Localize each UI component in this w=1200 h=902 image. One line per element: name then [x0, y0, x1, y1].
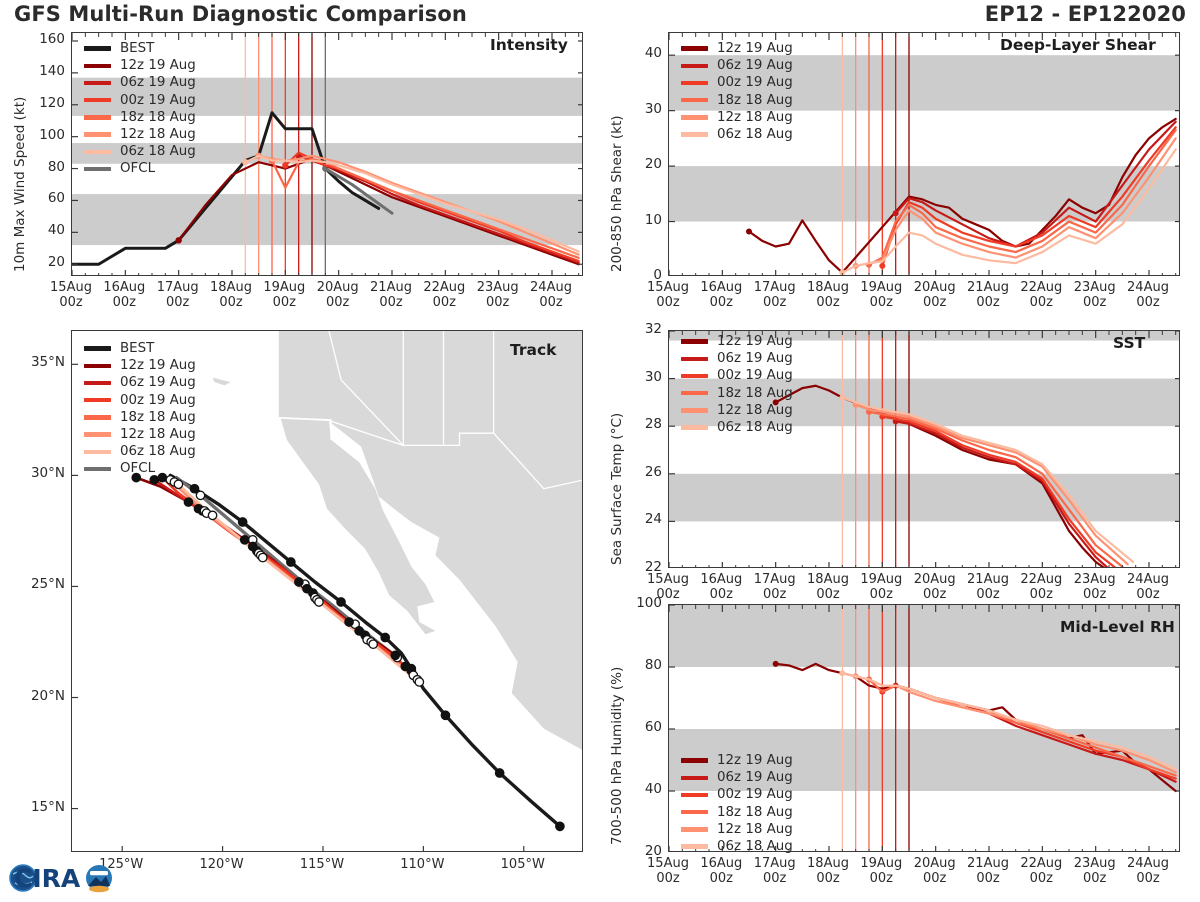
legend-item: 12z 18 Aug — [681, 402, 793, 419]
legend-label: 12z 18 Aug — [717, 822, 793, 837]
axis-tick-label: 10 — [622, 212, 662, 228]
legend-item: 06z 19 Aug — [84, 374, 196, 391]
legend-label: 00z 19 Aug — [120, 93, 196, 108]
axis-tick-label: 115°W — [282, 858, 362, 873]
axis-tick-label: 40 — [25, 222, 65, 238]
legend-label: 06z 19 Aug — [120, 375, 196, 390]
legend-label: 12z 18 Aug — [717, 403, 793, 418]
legend-item: 12z 18 Aug — [84, 126, 196, 143]
legend-intensity: BEST12z 19 Aug06z 19 Aug00z 19 Aug18z 18… — [84, 40, 196, 178]
legend-swatch-icon — [681, 776, 708, 780]
legend-label: 12z 18 Aug — [120, 427, 196, 442]
legend-item: 12z 19 Aug — [681, 40, 793, 57]
legend-swatch-icon — [681, 64, 708, 68]
svg-text:CIRA: CIRA — [14, 864, 81, 893]
legend-sst: 12z 19 Aug06z 19 Aug00z 19 Aug18z 18 Aug… — [681, 333, 793, 436]
legend-swatch-icon — [681, 81, 708, 85]
legend-item: BEST — [84, 40, 196, 57]
legend-item: 00z 19 Aug — [681, 74, 793, 91]
legend-swatch-icon — [681, 339, 708, 343]
storm-id-title: EP12 - EP122020 — [985, 2, 1186, 26]
axis-tick-label: 110°W — [382, 858, 462, 873]
axis-tick-label: 15°N — [9, 799, 65, 815]
legend-swatch-icon — [84, 46, 111, 50]
legend-swatch-icon — [84, 381, 111, 385]
panel-title-rh: Mid-Level RH — [1060, 618, 1175, 636]
legend-rh: 12z 19 Aug06z 19 Aug00z 19 Aug18z 18 Aug… — [681, 752, 793, 855]
legend-swatch-icon — [84, 415, 111, 419]
legend-label: BEST — [120, 341, 154, 356]
legend-swatch-icon — [681, 46, 708, 50]
legend-label: 06z 18 Aug — [717, 420, 793, 435]
legend-item: 00z 19 Aug — [681, 786, 793, 803]
axis-tick-label: 80 — [25, 159, 65, 175]
legend-label: OFCL — [120, 161, 155, 176]
legend-label: 12z 19 Aug — [717, 334, 793, 349]
legend-swatch-icon — [681, 793, 708, 797]
axis-tick-label: 24 — [622, 511, 662, 527]
legend-item: BEST — [84, 340, 196, 357]
legend-swatch-icon — [681, 357, 708, 361]
legend-item: 06z 19 Aug — [681, 350, 793, 367]
legend-label: 06z 18 Aug — [717, 839, 793, 854]
legend-item: 06z 19 Aug — [681, 57, 793, 74]
legend-label: 18z 18 Aug — [120, 410, 196, 425]
legend-swatch-icon — [681, 132, 708, 136]
panel-title-shear: Deep-Layer Shear — [1000, 36, 1156, 54]
legend-item: 18z 18 Aug — [84, 409, 196, 426]
axis-tick-label: 26 — [622, 464, 662, 480]
legend-swatch-icon — [84, 467, 111, 471]
legend-swatch-icon — [84, 81, 111, 85]
axis-tick-label: 100 — [622, 595, 662, 611]
legend-shear: 12z 19 Aug06z 19 Aug00z 19 Aug18z 18 Aug… — [681, 40, 793, 143]
legend-swatch-icon — [84, 364, 111, 368]
axis-tick-label: 35°N — [9, 354, 65, 370]
legend-item: 12z 18 Aug — [84, 426, 196, 443]
legend-swatch-icon — [681, 408, 708, 412]
legend-swatch-icon — [84, 398, 111, 402]
axis-label-intensity-y: 10m Max Wind Speed (kt) — [12, 97, 28, 272]
legend-item: 00z 19 Aug — [84, 92, 196, 109]
axis-tick-label: 120°W — [182, 858, 262, 873]
panel-title-track: Track — [510, 341, 556, 359]
legend-swatch-icon — [84, 115, 111, 119]
axis-tick-label: 60 — [622, 719, 662, 735]
legend-label: 18z 18 Aug — [717, 386, 793, 401]
legend-swatch-icon — [681, 391, 708, 395]
axis-tick-label: 24Aug00z — [517, 281, 585, 310]
figure-root: GFS Multi-Run Diagnostic Comparison EP12… — [0, 0, 1200, 900]
legend-item: 12z 18 Aug — [681, 109, 793, 126]
axis-label-sst-y: Sea Surface Temp (°C) — [609, 413, 625, 565]
axis-tick-label: 28 — [622, 416, 662, 432]
axis-tick-label: 100 — [25, 127, 65, 143]
axis-tick-label: 40 — [622, 781, 662, 797]
axis-tick-label: 160 — [25, 31, 65, 47]
legend-swatch-icon — [84, 450, 111, 454]
legend-item: 18z 18 Aug — [681, 92, 793, 109]
legend-label: 06z 19 Aug — [717, 351, 793, 366]
legend-swatch-icon — [681, 374, 708, 378]
legend-item: 12z 19 Aug — [681, 333, 793, 350]
legend-item: 06z 18 Aug — [681, 419, 793, 436]
legend-swatch-icon — [84, 132, 111, 136]
legend-item: 12z 19 Aug — [84, 57, 196, 74]
axis-tick-label: 20 — [25, 254, 65, 270]
legend-label: 18z 18 Aug — [717, 805, 793, 820]
legend-track: BEST12z 19 Aug06z 19 Aug00z 19 Aug18z 18… — [84, 340, 196, 478]
legend-swatch-icon — [681, 810, 708, 814]
legend-item: 18z 18 Aug — [681, 804, 793, 821]
legend-label: 12z 19 Aug — [120, 358, 196, 373]
legend-item: 06z 19 Aug — [681, 769, 793, 786]
axis-tick-label: 24Aug00z — [1114, 857, 1182, 886]
legend-item: 18z 18 Aug — [84, 109, 196, 126]
legend-label: 06z 18 Aug — [120, 444, 196, 459]
page-title: GFS Multi-Run Diagnostic Comparison — [14, 2, 467, 26]
axis-tick-label: 30 — [622, 101, 662, 117]
legend-item: 06z 19 Aug — [84, 74, 196, 91]
legend-label: 00z 19 Aug — [717, 368, 793, 383]
legend-item: 00z 19 Aug — [681, 367, 793, 384]
legend-swatch-icon — [84, 346, 111, 350]
legend-item: 00z 19 Aug — [84, 392, 196, 409]
axis-tick-label: 30°N — [9, 465, 65, 481]
legend-swatch-icon — [84, 98, 111, 102]
legend-swatch-icon — [681, 758, 708, 762]
legend-swatch-icon — [84, 432, 111, 436]
legend-item: 12z 18 Aug — [681, 821, 793, 838]
legend-label: 12z 18 Aug — [120, 127, 196, 142]
legend-label: 12z 19 Aug — [120, 58, 196, 73]
legend-label: 12z 18 Aug — [717, 110, 793, 125]
legend-label: 00z 19 Aug — [717, 787, 793, 802]
legend-label: BEST — [120, 41, 154, 56]
legend-item: 06z 18 Aug — [681, 126, 793, 143]
legend-label: 06z 19 Aug — [717, 770, 793, 785]
legend-label: 12z 19 Aug — [717, 753, 793, 768]
legend-label: OFCL — [120, 461, 155, 476]
legend-swatch-icon — [681, 425, 708, 429]
axis-tick-label: 80 — [622, 657, 662, 673]
axis-tick-label: 20 — [622, 156, 662, 172]
axis-tick-label: 32 — [622, 321, 662, 337]
axis-label-rh-y: 700-500 hPa Humidity (%) — [609, 667, 625, 845]
cira-logo: CIRA — [6, 856, 126, 898]
axis-tick-label: 20°N — [9, 688, 65, 704]
legend-swatch-icon — [84, 167, 111, 171]
legend-item: OFCL — [84, 460, 196, 477]
cira-logo-icon: CIRA — [6, 856, 126, 898]
legend-label: 00z 19 Aug — [717, 75, 793, 90]
legend-swatch-icon — [681, 115, 708, 119]
legend-swatch-icon — [681, 98, 708, 102]
legend-label: 12z 19 Aug — [717, 41, 793, 56]
axis-tick-label: 120 — [25, 95, 65, 111]
panel-title-sst: SST — [1113, 334, 1145, 352]
axis-tick-label: 105°W — [483, 858, 563, 873]
legend-item: OFCL — [84, 160, 196, 177]
legend-item: 06z 18 Aug — [681, 838, 793, 855]
panel-title-intensity: Intensity — [490, 36, 568, 54]
axis-tick-label: 60 — [25, 190, 65, 206]
axis-tick-label: 40 — [622, 45, 662, 61]
legend-item: 18z 18 Aug — [681, 385, 793, 402]
axis-tick-label: 30 — [622, 369, 662, 385]
axis-label-shear-y: 200-850 hPa Shear (kt) — [609, 115, 625, 272]
legend-label: 18z 18 Aug — [717, 93, 793, 108]
legend-item: 06z 18 Aug — [84, 143, 196, 160]
legend-label: 18z 18 Aug — [120, 110, 196, 125]
axis-tick-label: 24Aug00z — [1114, 573, 1182, 602]
legend-item: 12z 19 Aug — [681, 752, 793, 769]
legend-swatch-icon — [681, 844, 708, 848]
legend-swatch-icon — [681, 827, 708, 831]
legend-item: 06z 18 Aug — [84, 443, 196, 460]
legend-label: 06z 19 Aug — [120, 75, 196, 90]
legend-swatch-icon — [84, 64, 111, 68]
legend-label: 06z 18 Aug — [120, 144, 196, 159]
legend-label: 06z 18 Aug — [717, 127, 793, 142]
legend-item: 12z 19 Aug — [84, 357, 196, 374]
legend-swatch-icon — [84, 150, 111, 154]
legend-label: 06z 19 Aug — [717, 58, 793, 73]
axis-tick-label: 140 — [25, 63, 65, 79]
axis-tick-label: 25°N — [9, 576, 65, 592]
axis-tick-label: 24Aug00z — [1114, 281, 1182, 310]
legend-label: 00z 19 Aug — [120, 393, 196, 408]
